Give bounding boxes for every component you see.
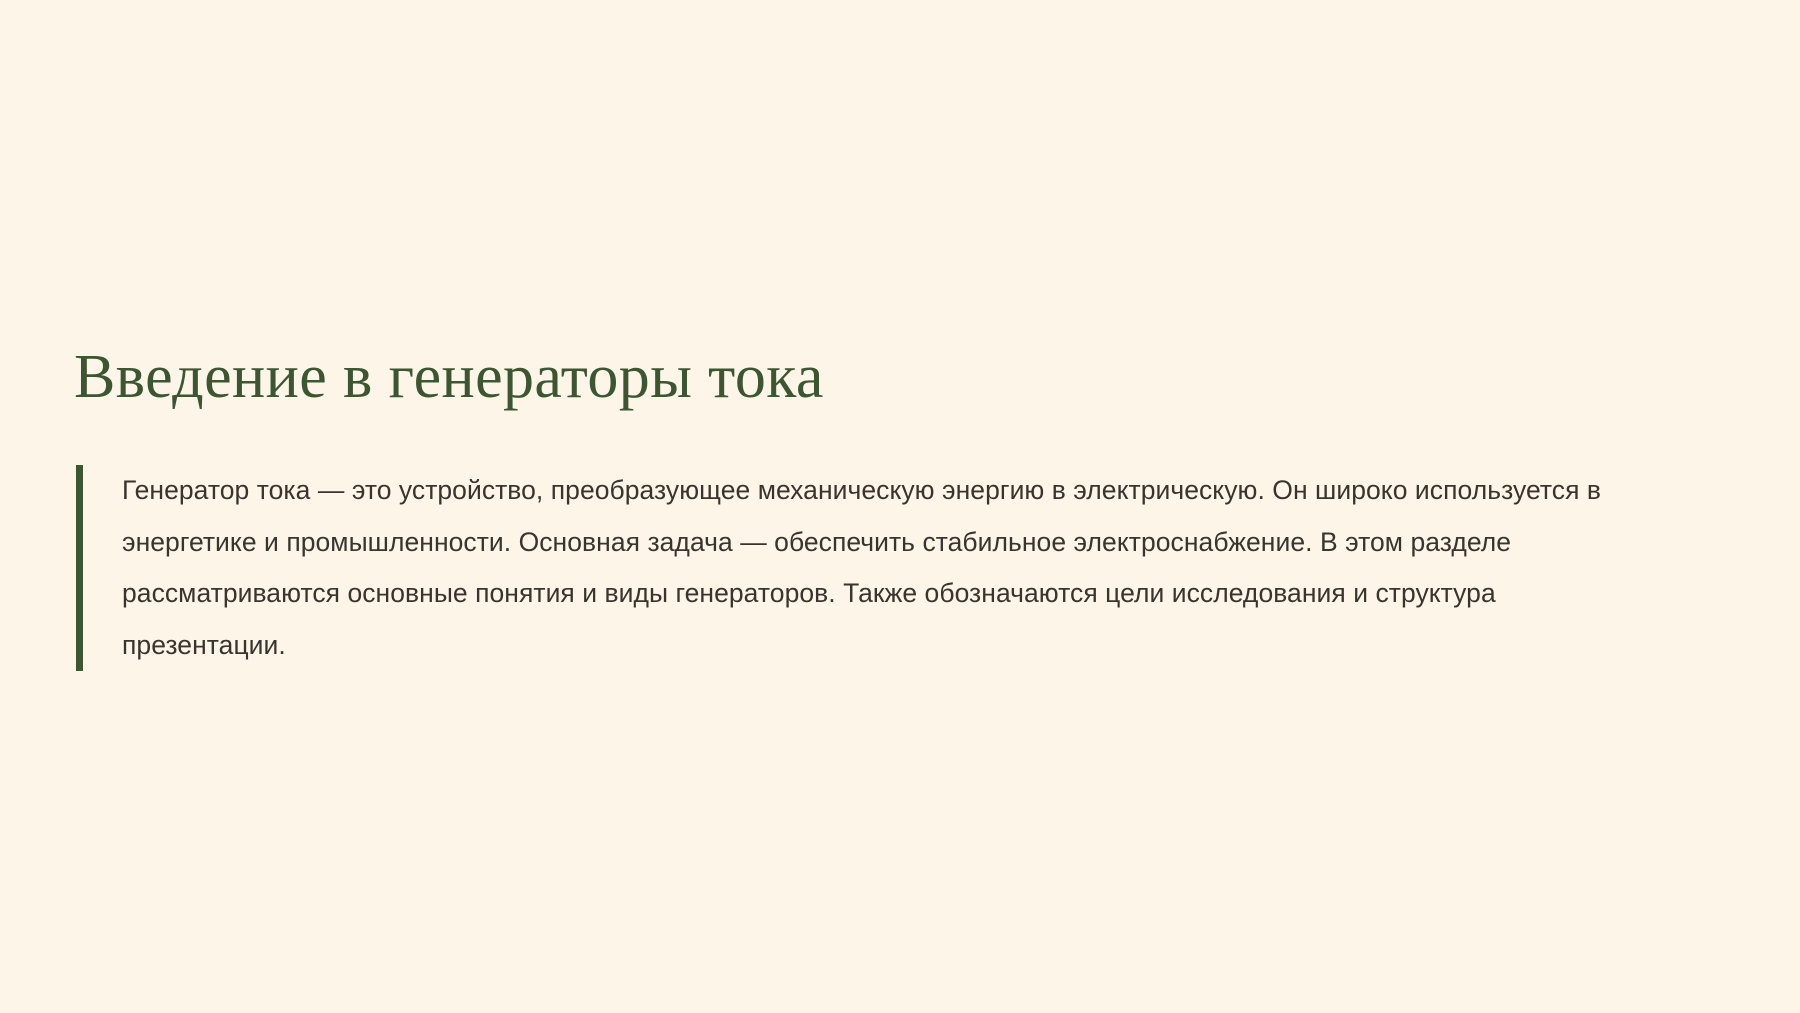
page-title: Введение в генераторы тока (74, 339, 824, 415)
body-paragraph: Генератор тока — это устройство, преобра… (83, 465, 1636, 671)
body-callout: Генератор тока — это устройство, преобра… (76, 465, 1636, 671)
presentation-slide: Введение в генераторы тока Генератор ток… (0, 0, 1800, 1013)
accent-bar (76, 465, 83, 671)
